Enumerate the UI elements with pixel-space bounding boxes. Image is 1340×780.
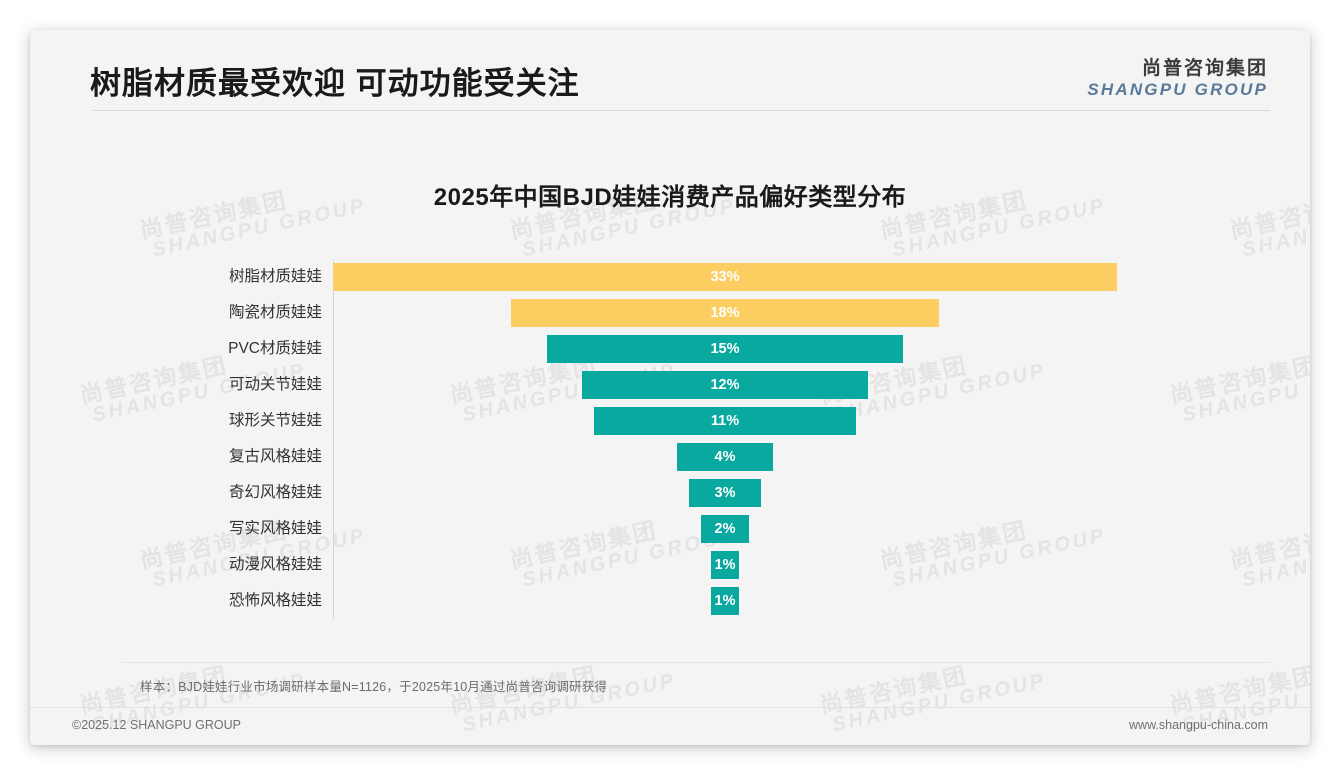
chart-row: PVC材质娃娃15% <box>100 331 1240 367</box>
chart-area: 2025年中国BJD娃娃消费产品偏好类型分布 树脂材质娃娃33%陶瓷材质娃娃18… <box>30 115 1310 660</box>
chart-row: 陶瓷材质娃娃18% <box>100 295 1240 331</box>
chart-row: 球形关节娃娃11% <box>100 403 1240 439</box>
website-url: www.shangpu-china.com <box>1129 718 1268 732</box>
category-label: PVC材质娃娃 <box>100 331 322 367</box>
slide-footer: ©2025.12 SHANGPU GROUP www.shangpu-china… <box>30 708 1310 745</box>
chart-row: 动漫风格娃娃1% <box>100 547 1240 583</box>
bar[interactable] <box>711 551 739 579</box>
bar[interactable] <box>711 587 739 615</box>
slide-canvas: 尚普咨询集团SHANGPU GROUP尚普咨询集团SHANGPU GROUP尚普… <box>30 30 1310 745</box>
sample-footnote: 样本：BJD娃娃行业市场调研样本量N=1126，于2025年10月通过尚普咨询调… <box>140 676 607 695</box>
category-label: 陶瓷材质娃娃 <box>100 295 322 331</box>
bar[interactable] <box>333 263 1117 291</box>
category-label: 树脂材质娃娃 <box>100 259 322 295</box>
logo-english-text: SHANGPU GROUP <box>1087 80 1268 100</box>
bar[interactable] <box>689 479 760 507</box>
funnel-bar-plot: 树脂材质娃娃33%陶瓷材质娃娃18%PVC材质娃娃15%可动关节娃娃12%球形关… <box>100 259 1240 619</box>
bar[interactable] <box>701 515 749 543</box>
chart-row: 可动关节娃娃12% <box>100 367 1240 403</box>
chart-row: 复古风格娃娃4% <box>100 439 1240 475</box>
category-label: 复古风格娃娃 <box>100 439 322 475</box>
bar[interactable] <box>594 407 855 435</box>
chart-row: 奇幻风格娃娃3% <box>100 475 1240 511</box>
logo-chinese-text: 尚普咨询集团 <box>1087 58 1268 80</box>
category-label: 写实风格娃娃 <box>100 511 322 547</box>
chart-title: 2025年中国BJD娃娃消费产品偏好类型分布 <box>30 177 1310 212</box>
category-label: 动漫风格娃娃 <box>100 547 322 583</box>
category-label: 可动关节娃娃 <box>100 367 322 403</box>
slide-header: 树脂材质最受欢迎 可动功能受关注 尚普咨询集团 SHANGPU GROUP <box>30 30 1310 115</box>
footnote-divider <box>122 662 1270 663</box>
bar[interactable] <box>511 299 939 327</box>
bar[interactable] <box>677 443 772 471</box>
chart-row: 树脂材质娃娃33% <box>100 259 1240 295</box>
chart-row: 写实风格娃娃2% <box>100 511 1240 547</box>
chart-row: 恐怖风格娃娃1% <box>100 583 1240 619</box>
category-label: 球形关节娃娃 <box>100 403 322 439</box>
page-title: 树脂材质最受欢迎 可动功能受关注 <box>90 58 580 103</box>
header-divider <box>92 110 1270 111</box>
category-label: 奇幻风格娃娃 <box>100 475 322 511</box>
category-label: 恐怖风格娃娃 <box>100 583 322 619</box>
company-logo: 尚普咨询集团 SHANGPU GROUP <box>1087 58 1268 99</box>
bar[interactable] <box>547 335 903 363</box>
bar[interactable] <box>582 371 867 399</box>
copyright-text: ©2025.12 SHANGPU GROUP <box>72 718 241 732</box>
